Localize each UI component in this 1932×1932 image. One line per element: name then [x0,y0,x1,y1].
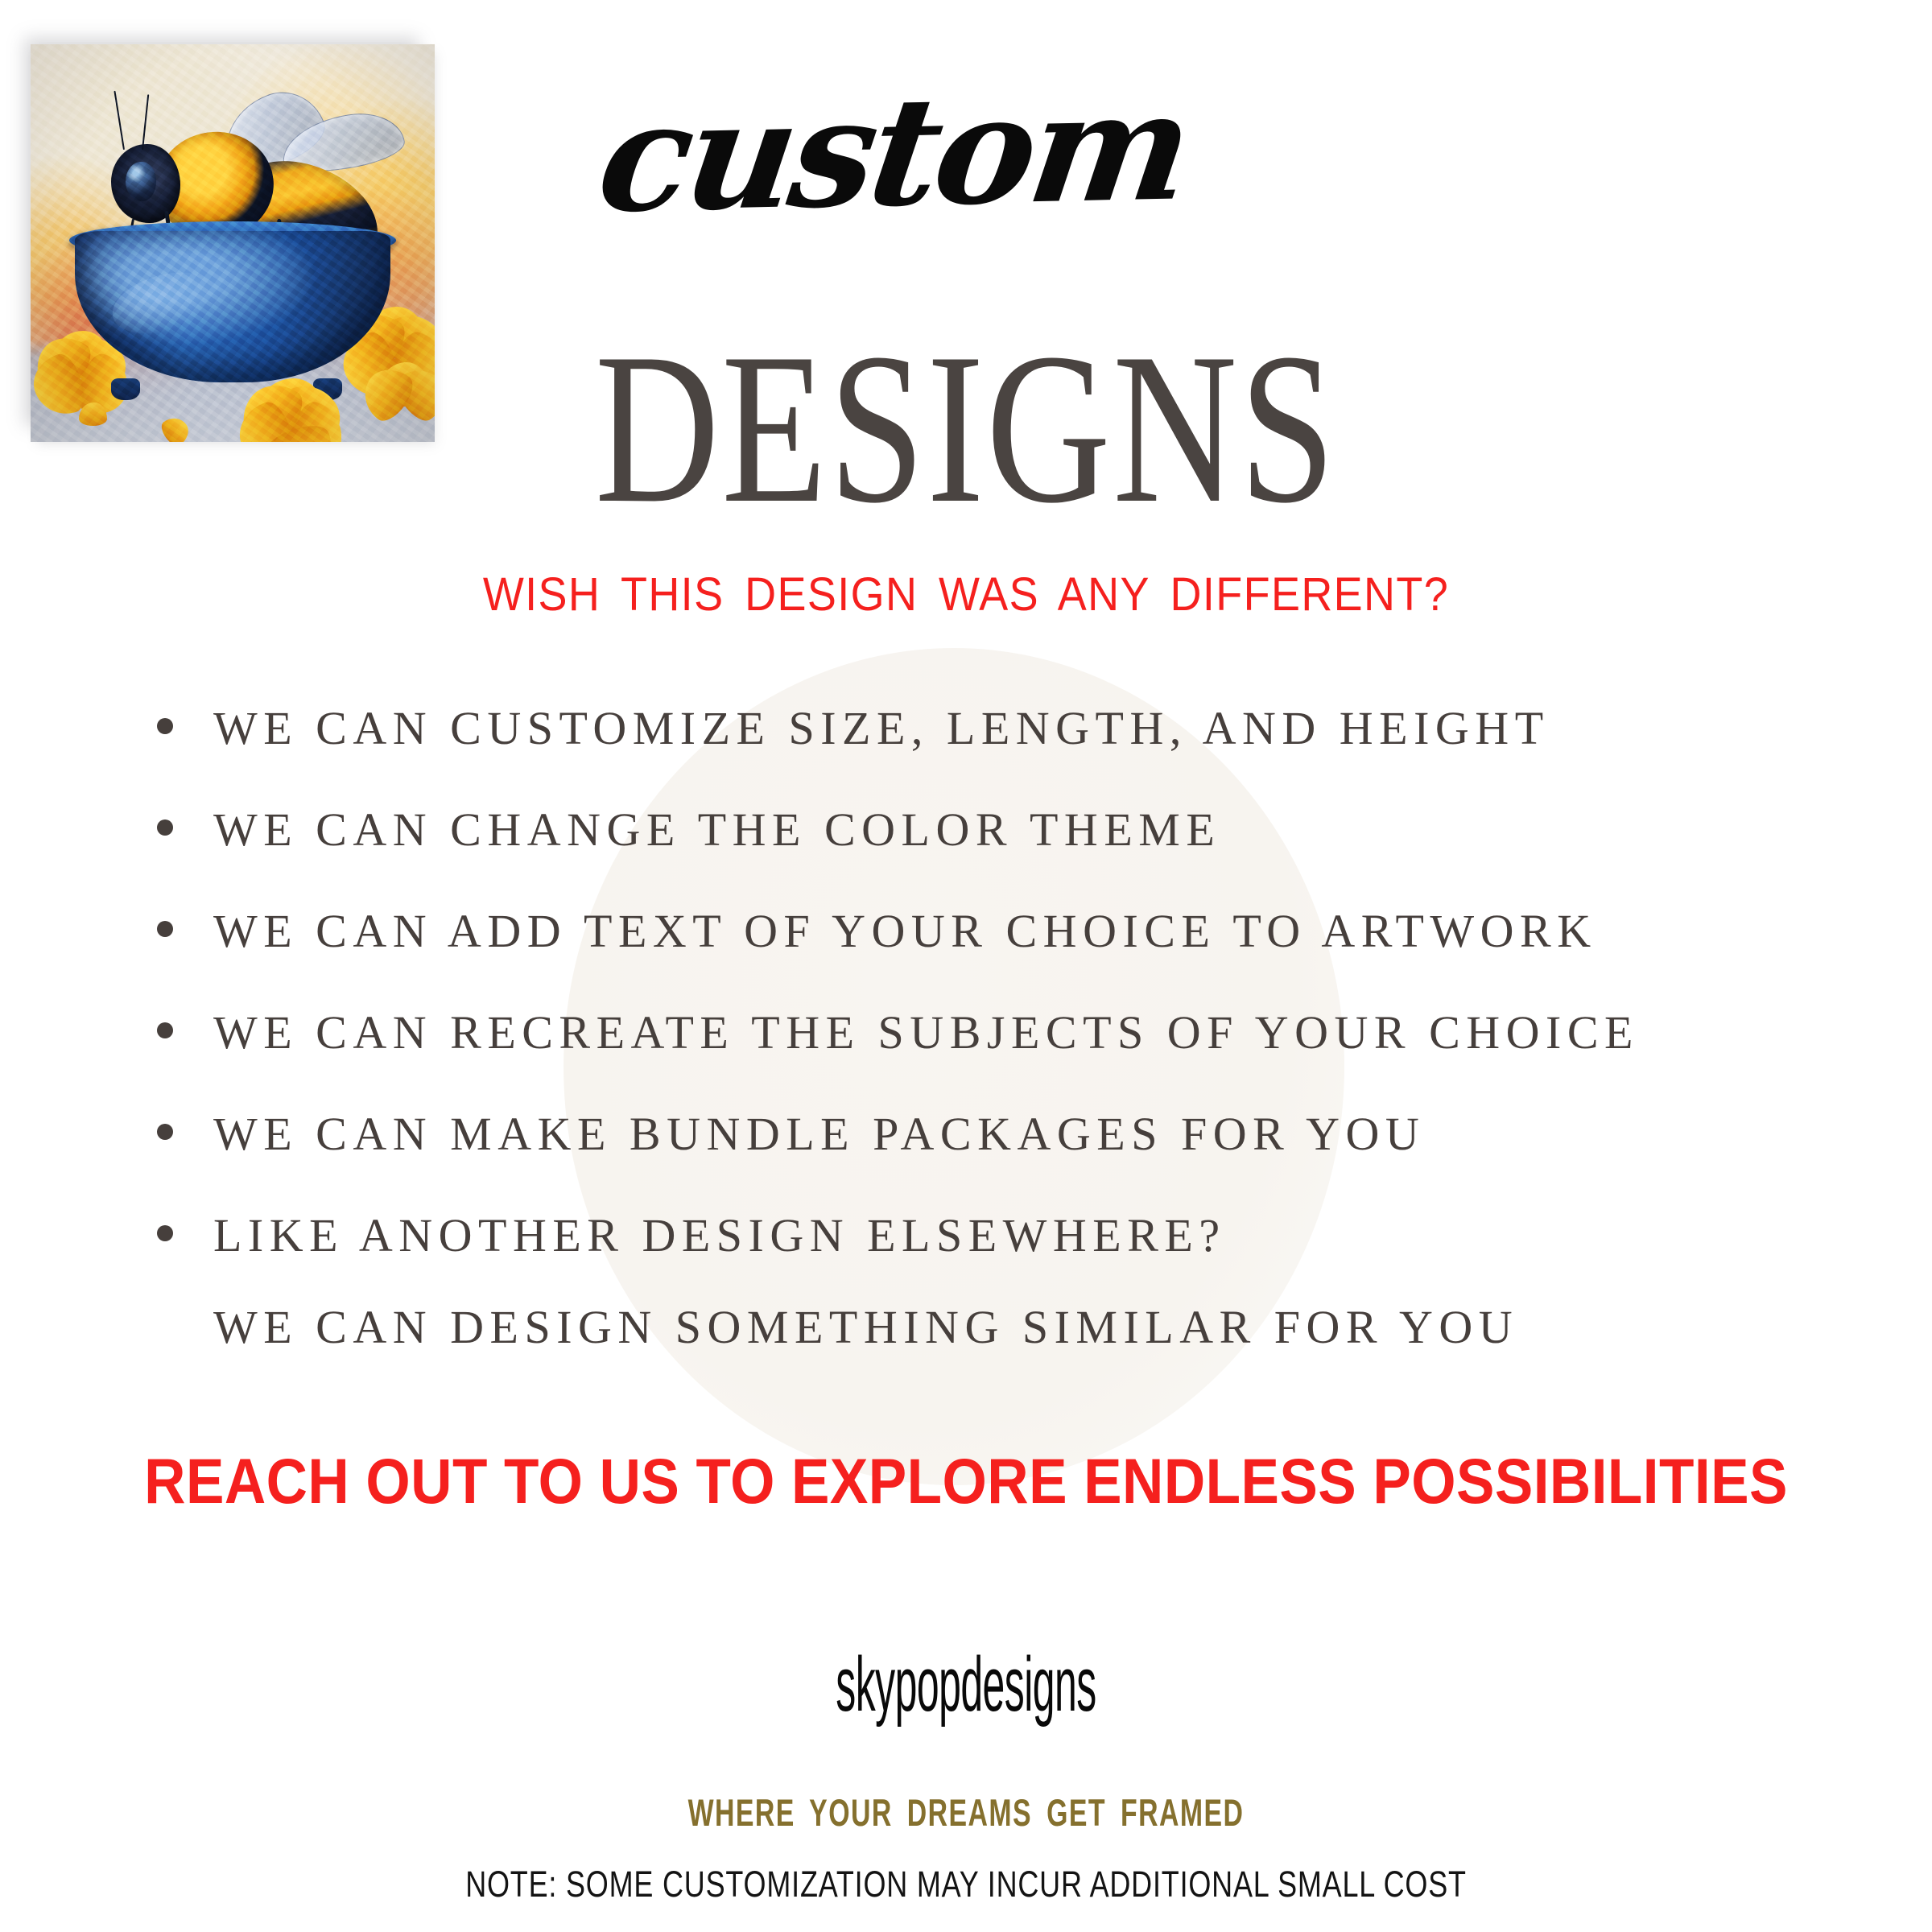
list-item-label: WE CAN CUSTOMIZE SIZE, LENGTH, AND HEIGH… [213,705,1550,752]
script-word-custom: custom [440,68,1348,237]
list-item-continuation-label: WE CAN DESIGN SOMETHING SIMILAR FOR YOU [213,1304,1518,1351]
list-item: WE CAN CUSTOMIZE SIZE, LENGTH, AND HEIGH… [157,705,1839,807]
footer-note: NOTE: SOME CUSTOMIZATION MAY INCUR ADDIT… [193,1866,1739,1902]
bullet-dot-icon [157,921,173,937]
list-item-label: WE CAN RECREATE THE SUBJECTS OF YOUR CHO… [213,1009,1639,1056]
brand-tagline: WHERE YOUR DREAMS GET FRAMED [270,1794,1662,1831]
brand-logo-wordmark: skypopdesigns [464,1646,1468,1724]
list-item-label: LIKE ANOTHER DESIGN ELSEWHERE? [213,1212,1226,1259]
bullet-dot-icon [157,1022,173,1038]
subheadline-question: WISH THIS DESIGN WAS ANY DIFFERENT? [68,572,1864,618]
bullet-dot-icon [157,1124,173,1140]
bullet-dot-icon [157,1225,173,1241]
list-item-label: WE CAN MAKE BUNDLE PACKAGES FOR YOU [213,1111,1425,1158]
poster-canvas: custom DESIGNS WISH THIS DESIGN WAS ANY … [0,0,1932,1932]
list-item: WE CAN RECREATE THE SUBJECTS OF YOUR CHO… [157,1009,1839,1111]
list-item-label: WE CAN CHANGE THE COLOR THEME [213,807,1220,853]
list-item: LIKE ANOTHER DESIGN ELSEWHERE? [157,1212,1839,1314]
feature-list: WE CAN CUSTOMIZE SIZE, LENGTH, AND HEIGH… [157,705,1839,1314]
bullet-dot-icon [157,819,173,836]
list-item: WE CAN CHANGE THE COLOR THEME [157,807,1839,908]
call-to-action-text: REACH OUT TO US TO EXPLORE ENDLESS POSSI… [97,1449,1835,1513]
bullet-dot-icon [157,718,173,734]
list-item: WE CAN MAKE BUNDLE PACKAGES FOR YOU [157,1111,1839,1212]
list-item: WE CAN ADD TEXT OF YOUR CHOICE TO ARTWOR… [157,908,1839,1009]
page-title-designs: DESIGNS [193,320,1739,536]
list-item-label: WE CAN ADD TEXT OF YOUR CHOICE TO ARTWOR… [213,908,1597,955]
